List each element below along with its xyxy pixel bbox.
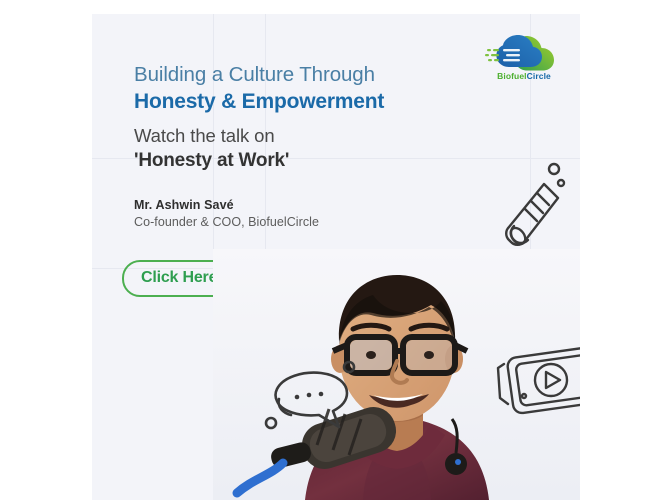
headline-line-4: 'Honesty at Work' — [134, 149, 464, 173]
play-card-doodle — [496, 334, 580, 430]
logo-word-biofuel: Biofuel — [497, 71, 527, 81]
headline-block: Building a Culture Through Honesty & Emp… — [134, 62, 464, 173]
speaker-name: Mr. Ashwin Savé — [134, 198, 434, 212]
screenshot-root: BiofuelCircle Building a Culture Through… — [0, 0, 666, 500]
microphone-doodle — [492, 160, 567, 265]
logo-word-circle: Circle — [527, 71, 551, 81]
headline-line-1: Building a Culture Through — [134, 62, 464, 87]
headline-line-3: Watch the talk on — [134, 124, 464, 147]
cloud-logo-icon — [482, 32, 566, 74]
promo-canvas: BiofuelCircle Building a Culture Through… — [92, 14, 580, 500]
headline-line-2: Honesty & Empowerment — [134, 89, 464, 115]
logo-wordmark: BiofuelCircle — [482, 72, 566, 81]
biofuelcircle-logo: BiofuelCircle — [482, 32, 566, 90]
speaker-role: Co-founder & COO, BiofuelCircle — [134, 215, 434, 229]
speech-bubble-doodle — [257, 359, 357, 439]
speaker-block: Mr. Ashwin Savé Co-founder & COO, Biofue… — [134, 198, 434, 229]
